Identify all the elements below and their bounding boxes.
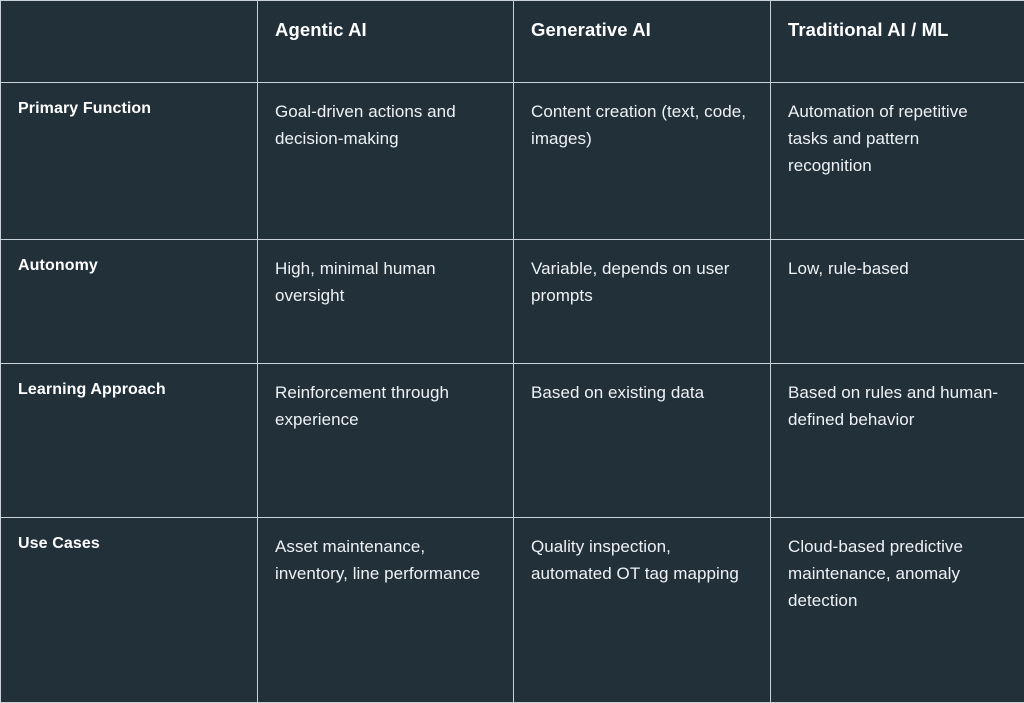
cell-autonomy-agentic-ai: High, minimal human oversight — [258, 240, 514, 364]
table-row: Primary Function Goal-driven actions and… — [1, 83, 1024, 240]
comparison-table-container: Agentic AI Generative AI Traditional AI … — [0, 0, 1024, 551]
table-row: Learning Approach Reinforcement through … — [1, 364, 1024, 518]
column-header-agentic-ai: Agentic AI — [258, 1, 514, 83]
table-header: Agentic AI Generative AI Traditional AI … — [1, 1, 1024, 83]
row-label-primary-function: Primary Function — [1, 83, 258, 240]
table-body: Primary Function Goal-driven actions and… — [1, 83, 1024, 703]
table-corner-cell — [1, 1, 258, 83]
cell-primary-function-traditional-ai-ml: Automation of repetitive tasks and patte… — [771, 83, 1024, 240]
cell-use-cases-generative-ai: Quality inspection, automated OT tag map… — [514, 518, 771, 703]
cell-primary-function-agentic-ai: Goal-driven actions and decision-making — [258, 83, 514, 240]
column-header-traditional-ai-ml: Traditional AI / ML — [771, 1, 1024, 83]
cell-autonomy-generative-ai: Variable, depends on user prompts — [514, 240, 771, 364]
cell-learning-approach-generative-ai: Based on existing data — [514, 364, 771, 518]
ai-comparison-table: Agentic AI Generative AI Traditional AI … — [0, 0, 1024, 703]
row-label-use-cases: Use Cases — [1, 518, 258, 703]
cell-autonomy-traditional-ai-ml: Low, rule-based — [771, 240, 1024, 364]
cell-primary-function-generative-ai: Content creation (text, code, images) — [514, 83, 771, 240]
table-header-row: Agentic AI Generative AI Traditional AI … — [1, 1, 1024, 83]
row-label-autonomy: Autonomy — [1, 240, 258, 364]
column-header-generative-ai: Generative AI — [514, 1, 771, 83]
row-label-learning-approach: Learning Approach — [1, 364, 258, 518]
cell-use-cases-agentic-ai: Asset maintenance, inventory, line perfo… — [258, 518, 514, 703]
cell-learning-approach-traditional-ai-ml: Based on rules and human-defined behavio… — [771, 364, 1024, 518]
cell-use-cases-traditional-ai-ml: Cloud-based predictive maintenance, anom… — [771, 518, 1024, 703]
cell-learning-approach-agentic-ai: Reinforcement through experience — [258, 364, 514, 518]
table-row: Autonomy High, minimal human oversight V… — [1, 240, 1024, 364]
table-row: Use Cases Asset maintenance, inventory, … — [1, 518, 1024, 703]
